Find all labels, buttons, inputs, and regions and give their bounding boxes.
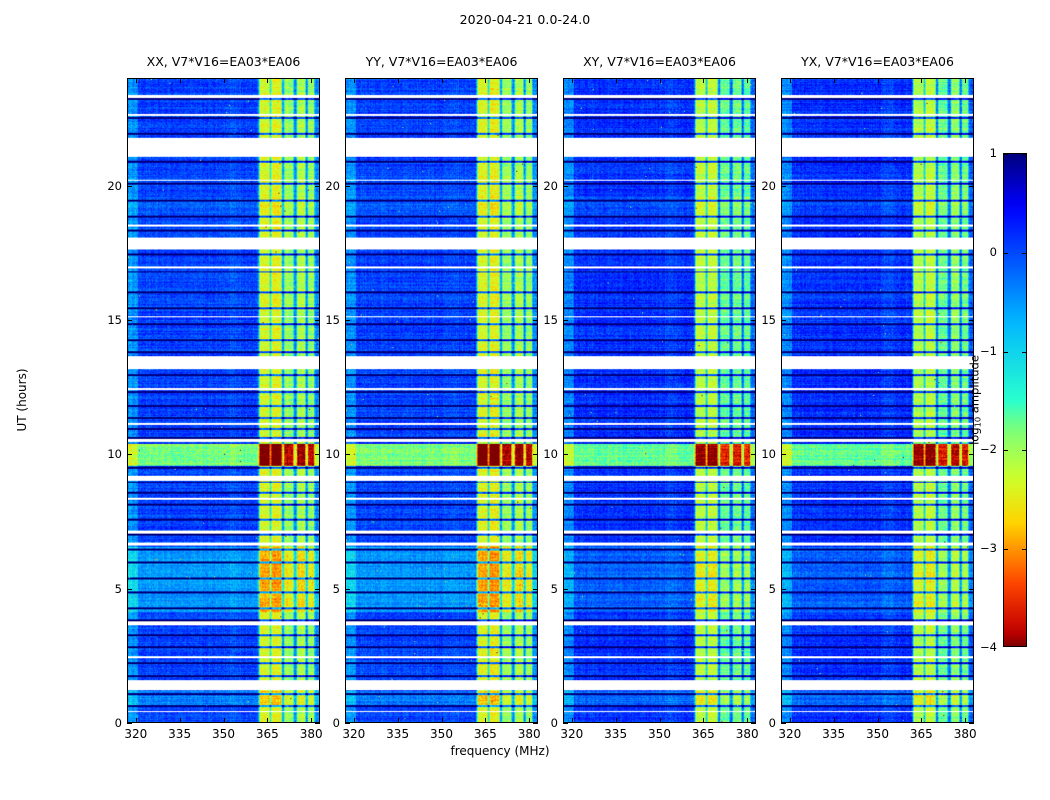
y-tick: [127, 454, 132, 455]
axes-yx[interactable]: [781, 78, 974, 723]
y-tick: [533, 454, 538, 455]
y-tick: [345, 723, 350, 724]
colorbar-tick-label: −2: [980, 442, 1003, 456]
x-tick-label: 320: [560, 727, 583, 741]
x-tick-label: 335: [604, 727, 627, 741]
dynamic-spectrum-xx: [128, 79, 319, 722]
y-tick: [315, 320, 320, 321]
colorbar-label-main: log: [967, 427, 981, 445]
x-tick: [529, 718, 530, 723]
x-tick: [136, 718, 137, 723]
x-tick-label: 365: [692, 727, 715, 741]
y-tick-label: 0: [115, 716, 122, 730]
x-tick: [398, 78, 399, 83]
x-tick: [311, 78, 312, 83]
y-tick-label: 5: [769, 582, 776, 596]
y-tick-label: 15: [325, 313, 340, 327]
x-tick: [572, 78, 573, 83]
y-tick: [751, 589, 756, 590]
x-tick-label: 350: [866, 727, 889, 741]
colorbar-tick-label: −4: [980, 640, 1003, 654]
x-tick: [529, 78, 530, 83]
x-tick: [442, 78, 443, 83]
y-tick: [751, 454, 756, 455]
y-tick: [315, 589, 320, 590]
panel-yx[interactable]: YX, V7*V16=EA03*EA0605101520320335350365…: [781, 78, 974, 723]
y-tick: [751, 723, 756, 724]
x-tick-label: 365: [910, 727, 933, 741]
colorbar-label: log10 amplitude: [967, 355, 982, 445]
y-tick-label: 10: [107, 447, 122, 461]
x-tick: [485, 78, 486, 83]
x-tick: [790, 78, 791, 83]
dynamic-spectrum-xy: [564, 79, 755, 722]
y-tick: [345, 186, 350, 187]
figure-suptitle: 2020-04-21 0.0-24.0: [0, 12, 1050, 27]
x-tick-label: 335: [386, 727, 409, 741]
x-tick-label: 350: [212, 727, 235, 741]
x-tick-label: 365: [256, 727, 279, 741]
colorbar-gradient: [1004, 154, 1026, 646]
y-tick: [969, 186, 974, 187]
y-tick-label: 0: [551, 716, 558, 730]
y-tick: [127, 723, 132, 724]
y-tick: [781, 723, 786, 724]
x-tick: [834, 718, 835, 723]
y-tick: [127, 320, 132, 321]
colorbar-tick: [1004, 352, 1008, 353]
axes-xy[interactable]: [563, 78, 756, 723]
y-tick: [969, 589, 974, 590]
panel-title-yy: YY, V7*V16=EA03*EA06: [366, 54, 518, 69]
x-tick: [747, 78, 748, 83]
x-tick-label: 320: [124, 727, 147, 741]
x-tick: [180, 78, 181, 83]
colorbar-tick: [1022, 450, 1026, 451]
x-tick: [878, 718, 879, 723]
y-tick-label: 20: [107, 179, 122, 193]
colorbar-tick: [1004, 549, 1008, 550]
x-tick: [660, 718, 661, 723]
colorbar-tick: [1022, 154, 1026, 155]
panel-title-xy: XY, V7*V16=EA03*EA06: [583, 54, 736, 69]
colorbar-tick-label: −1: [980, 344, 1003, 358]
y-tick-label: 20: [543, 179, 558, 193]
colorbar-label-sub: 10: [973, 417, 983, 428]
x-tick-label: 320: [342, 727, 365, 741]
x-tick: [442, 718, 443, 723]
x-tick: [267, 78, 268, 83]
x-tick-label: 350: [430, 727, 453, 741]
x-tick: [136, 78, 137, 83]
y-tick-label: 5: [333, 582, 340, 596]
y-tick: [563, 723, 568, 724]
y-tick: [127, 589, 132, 590]
x-tick: [224, 718, 225, 723]
y-tick: [533, 320, 538, 321]
y-tick: [563, 589, 568, 590]
y-tick: [969, 723, 974, 724]
y-tick: [533, 186, 538, 187]
y-tick: [345, 589, 350, 590]
x-tick-label: 380: [736, 727, 759, 741]
x-tick: [616, 718, 617, 723]
y-tick: [563, 186, 568, 187]
x-tick-label: 380: [518, 727, 541, 741]
y-tick-label: 15: [761, 313, 776, 327]
colorbar-label-tail: amplitude: [967, 355, 981, 417]
x-tick: [921, 78, 922, 83]
x-tick: [790, 718, 791, 723]
colorbar-tick: [1004, 253, 1008, 254]
y-tick: [345, 454, 350, 455]
x-tick: [572, 718, 573, 723]
y-tick: [563, 320, 568, 321]
y-tick: [781, 320, 786, 321]
x-tick: [921, 718, 922, 723]
x-tick: [354, 718, 355, 723]
x-tick: [398, 718, 399, 723]
y-tick: [781, 454, 786, 455]
x-tick-label: 380: [954, 727, 977, 741]
colorbar-tick-label: 1: [990, 146, 1003, 160]
panel-yy[interactable]: YY, V7*V16=EA03*EA0605101520320335350365…: [345, 78, 538, 723]
x-tick: [224, 78, 225, 83]
x-tick: [878, 78, 879, 83]
y-tick-label: 5: [551, 582, 558, 596]
y-tick-label: 0: [769, 716, 776, 730]
x-tick: [616, 78, 617, 83]
axes-yy[interactable]: [345, 78, 538, 723]
y-tick: [969, 320, 974, 321]
axes-xx[interactable]: [127, 78, 320, 723]
x-tick: [965, 718, 966, 723]
x-tick: [267, 718, 268, 723]
y-tick: [751, 186, 756, 187]
x-tick-label: 335: [168, 727, 191, 741]
x-tick: [747, 718, 748, 723]
y-tick: [315, 186, 320, 187]
dynamic-spectrum-yx: [782, 79, 973, 722]
x-tick: [180, 718, 181, 723]
y-tick-label: 10: [325, 447, 340, 461]
y-tick: [345, 320, 350, 321]
y-tick-label: 15: [543, 313, 558, 327]
x-tick: [660, 78, 661, 83]
colorbar-tick: [1004, 154, 1008, 155]
panel-xy[interactable]: XY, V7*V16=EA03*EA0605101520320335350365…: [563, 78, 756, 723]
y-tick: [315, 723, 320, 724]
x-axis-label: frequency (MHz): [0, 744, 1000, 758]
x-tick: [834, 78, 835, 83]
x-tick: [354, 78, 355, 83]
y-axis-label: UT (hours): [15, 368, 29, 431]
y-tick: [563, 454, 568, 455]
x-tick-label: 350: [648, 727, 671, 741]
y-tick: [781, 589, 786, 590]
y-tick-label: 15: [107, 313, 122, 327]
panel-title-yx: YX, V7*V16=EA03*EA06: [801, 54, 954, 69]
y-tick: [781, 186, 786, 187]
y-tick: [751, 320, 756, 321]
y-tick-label: 0: [333, 716, 340, 730]
colorbar-tick: [1022, 352, 1026, 353]
colorbar-tick-label: 0: [990, 245, 1003, 259]
x-tick-label: 320: [778, 727, 801, 741]
y-tick: [533, 723, 538, 724]
x-tick-label: 380: [300, 727, 323, 741]
y-tick: [315, 454, 320, 455]
colorbar-tick: [1004, 450, 1008, 451]
x-tick: [485, 718, 486, 723]
x-tick-label: 335: [822, 727, 845, 741]
y-tick: [127, 186, 132, 187]
y-tick-label: 20: [761, 179, 776, 193]
x-tick: [703, 718, 704, 723]
colorbar-tick-label: −3: [980, 541, 1003, 555]
colorbar-tick: [1022, 253, 1026, 254]
panel-xx[interactable]: XX, V7*V16=EA03*EA0605101520320335350365…: [127, 78, 320, 723]
x-tick: [703, 78, 704, 83]
y-tick-label: 5: [115, 582, 122, 596]
x-tick-label: 365: [474, 727, 497, 741]
x-tick: [311, 718, 312, 723]
dynamic-spectrum-yy: [346, 79, 537, 722]
panel-title-xx: XX, V7*V16=EA03*EA06: [147, 54, 301, 69]
colorbar[interactable]: [1003, 153, 1027, 647]
y-tick-label: 20: [325, 179, 340, 193]
figure-canvas: 2020-04-21 0.0-24.0 UT (hours) frequency…: [0, 0, 1050, 800]
y-tick-label: 10: [761, 447, 776, 461]
x-tick: [965, 78, 966, 83]
y-tick: [969, 454, 974, 455]
y-tick-label: 10: [543, 447, 558, 461]
colorbar-tick: [1022, 549, 1026, 550]
y-tick: [533, 589, 538, 590]
